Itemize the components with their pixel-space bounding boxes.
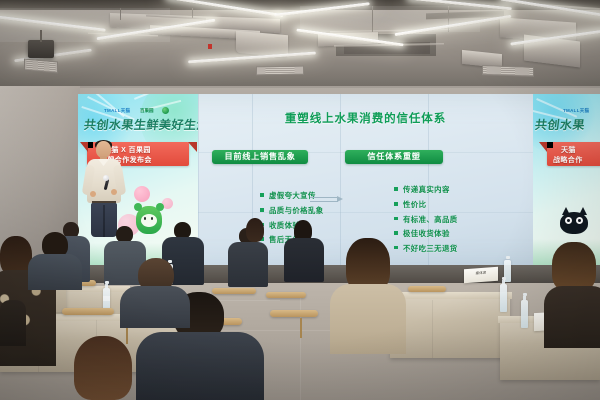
audience-body	[0, 300, 26, 346]
banner-headline: 共创水果生鲜美好生活	[83, 116, 198, 133]
partner-badge-icon	[162, 107, 169, 114]
bottle-neck	[105, 284, 108, 288]
water-bottle	[521, 300, 528, 328]
ribbon-tail-right	[188, 142, 197, 152]
pipe-hanger	[192, 8, 193, 18]
audience-body	[136, 332, 264, 400]
chair	[270, 310, 318, 317]
chair	[408, 286, 446, 292]
audience-body	[28, 254, 82, 290]
chair	[266, 292, 306, 298]
audience-body	[544, 286, 600, 348]
presenter-left-hand	[90, 191, 96, 197]
list-item: 性价比	[394, 199, 458, 210]
audience-body	[330, 284, 406, 354]
slide-left-heading: 目前线上销售乱象	[212, 150, 308, 164]
bottle-neck	[523, 296, 526, 300]
ceiling-vent	[256, 66, 304, 76]
audience-body	[284, 238, 324, 282]
bottle-cap	[523, 293, 527, 296]
audience-member	[238, 218, 272, 272]
list-item: 传递真实内容	[394, 184, 458, 195]
arrow-right-icon	[310, 194, 343, 205]
slide-title: 重塑线上水果消费的信任体系	[198, 110, 533, 126]
pipe-hanger	[372, 6, 373, 32]
bottle-cap	[105, 281, 109, 284]
list-item: 有标准、高品质	[394, 214, 458, 225]
table-top	[388, 292, 512, 299]
slide-right-heading: 信任体系重塑	[345, 150, 443, 164]
microphone-head-icon	[103, 175, 109, 181]
pipe-hanger	[448, 6, 449, 32]
projector-mount	[40, 30, 42, 42]
ceiling-projector-icon	[28, 40, 54, 58]
banner-right-ribbon-line-1: 天猫	[561, 145, 576, 155]
ribbon-right-tail	[539, 142, 547, 152]
banner-partner-logo: 百果园	[140, 108, 154, 114]
audience-hair	[552, 242, 596, 292]
banner-tmall-logo: TMALL天猫	[104, 108, 130, 114]
audience-member	[0, 300, 26, 346]
list-item: 品质与价格乱象	[260, 205, 324, 216]
audience-member	[120, 258, 190, 328]
audience-member	[548, 242, 600, 346]
pipe-hanger	[120, 8, 121, 20]
audience-member	[330, 238, 406, 354]
conference-photo-scene: TMALL天猫 百果园 共创水果生鲜美好生活 天猫 X 百果园 品牌合作发布会	[0, 0, 600, 400]
namecard-text: 媒体席	[464, 269, 498, 276]
floor-seam	[300, 292, 301, 400]
audience-member	[60, 336, 146, 400]
bottle-cap	[502, 277, 506, 280]
audience-hair	[74, 336, 132, 400]
water-bottle	[500, 284, 507, 312]
wall-seam	[0, 86, 600, 88]
table-namecard: 媒体席	[464, 267, 498, 283]
table-row	[390, 296, 510, 358]
bottle-neck	[502, 280, 505, 284]
presenter	[84, 141, 124, 237]
audience-body	[120, 286, 190, 328]
banner-right-tmall-logo: TMALL天猫	[563, 108, 589, 114]
tmall-cat-mascot-icon	[557, 208, 591, 238]
presenter-right-hand	[111, 189, 117, 195]
ceiling-vent	[482, 65, 534, 77]
banner-right-headline: 共创水果	[534, 116, 586, 133]
bottle-label	[103, 296, 110, 301]
chair	[62, 308, 114, 315]
banner-right-ribbon-line-2: 战略合作	[553, 155, 583, 165]
fire-sensor-icon	[208, 44, 212, 49]
audience-hair	[246, 218, 264, 242]
audience-member	[28, 232, 82, 290]
audience-member	[284, 220, 324, 282]
bottle-cap	[506, 256, 510, 259]
